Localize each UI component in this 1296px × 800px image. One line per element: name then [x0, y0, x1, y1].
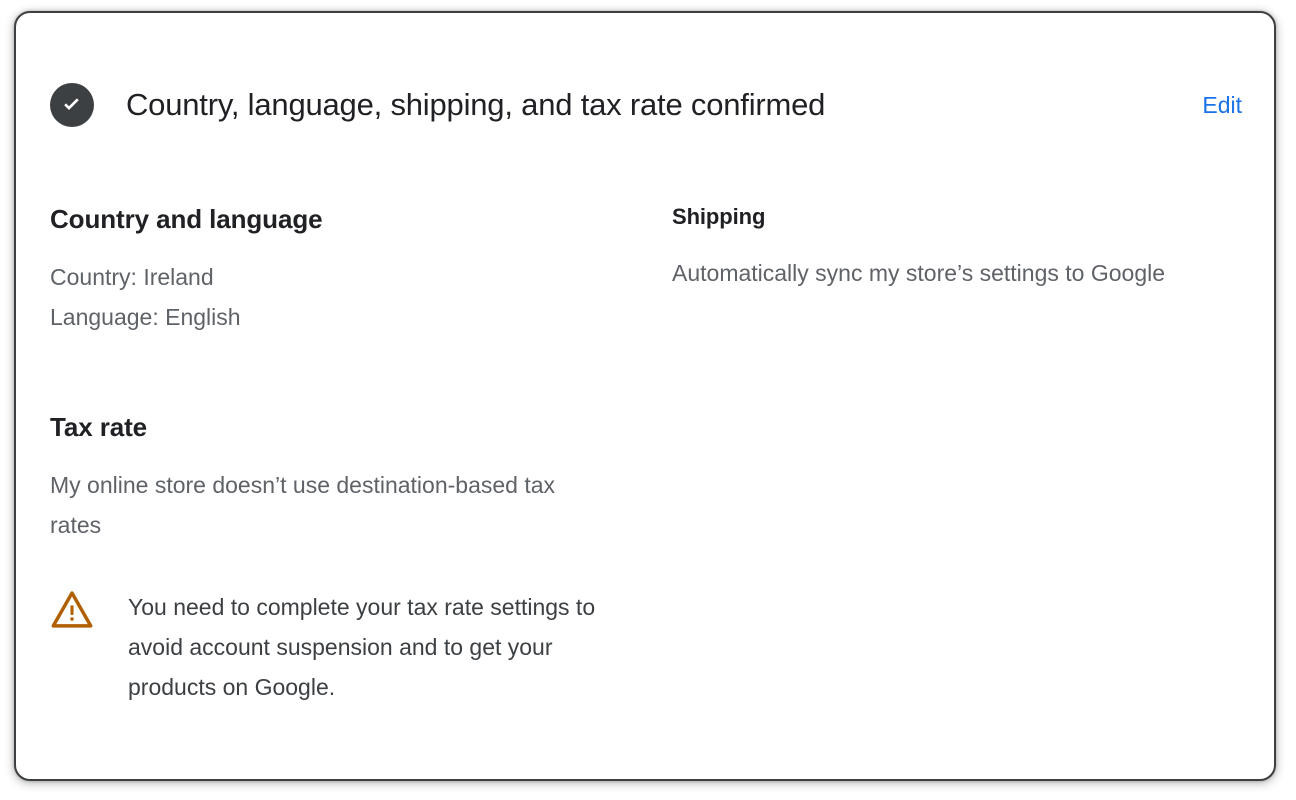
edit-link[interactable]: Edit	[1202, 91, 1242, 119]
confirmation-card: Country, language, shipping, and tax rat…	[14, 11, 1276, 781]
warning-triangle-icon	[50, 589, 96, 629]
tax-rate-description: My online store doesn’t use destination-…	[50, 465, 590, 545]
shipping-heading: Shipping	[672, 203, 1242, 231]
warning-message: You need to complete your tax rate setti…	[128, 587, 628, 707]
check-circle-icon	[50, 83, 94, 127]
country-and-language-heading: Country and language	[50, 203, 650, 235]
shipping-section: Shipping Automatically sync my store’s s…	[672, 203, 1242, 293]
tax-rate-section: Tax rate My online store doesn’t use des…	[50, 411, 650, 707]
language-value: Language: English	[50, 297, 650, 337]
country-value: Country: Ireland	[50, 257, 650, 297]
page-title: Country, language, shipping, and tax rat…	[126, 86, 1186, 124]
country-and-language-section: Country and language Country: Ireland La…	[50, 203, 650, 337]
shipping-description: Automatically sync my store’s settings t…	[672, 253, 1212, 293]
tax-rate-warning: You need to complete your tax rate setti…	[50, 587, 650, 707]
card-header: Country, language, shipping, and tax rat…	[50, 83, 1242, 127]
tax-rate-heading: Tax rate	[50, 411, 650, 443]
